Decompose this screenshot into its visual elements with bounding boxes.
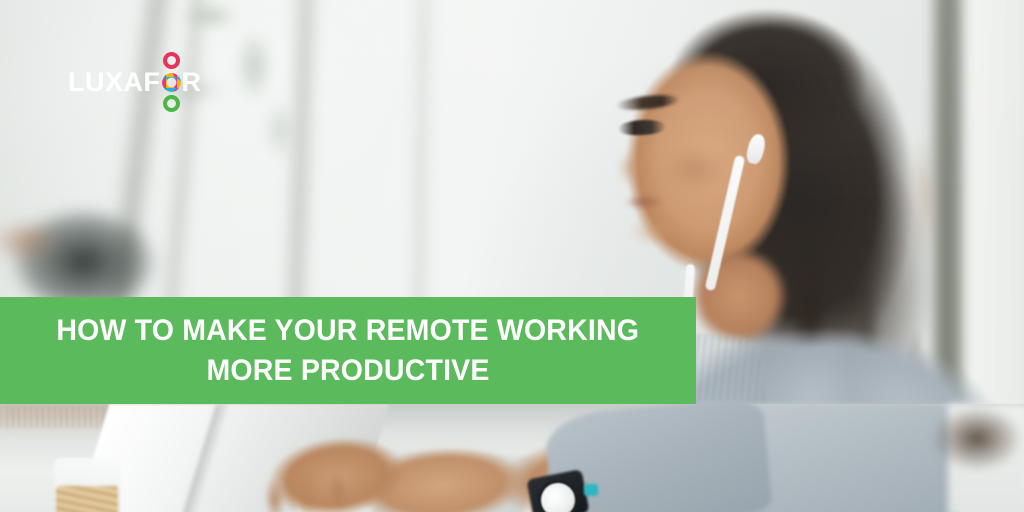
blurred-chair-highlight <box>0 206 80 276</box>
lips <box>618 191 670 213</box>
logo-wordmark-suffix: R <box>182 69 202 96</box>
logo-rings <box>161 69 182 96</box>
title-banner: HOW TO MAKE YOUR REMOTE WORKING MORE PRO… <box>0 297 696 404</box>
chin <box>622 214 688 256</box>
title-line-2: MORE PRODUCTIVE <box>206 351 489 391</box>
wristband-accent <box>584 484 598 496</box>
logo-wordmark-prefix: LUXAF <box>68 69 161 96</box>
logo-wordmark: LUXAF R <box>68 69 202 96</box>
logo-ring-green-icon <box>163 95 180 112</box>
glass-jar-contents <box>56 486 118 512</box>
logo-ring-multicolor-icon <box>162 73 181 92</box>
logo-ring-red-icon <box>163 52 180 69</box>
hair-lower <box>922 404 1024 490</box>
nose <box>608 144 644 192</box>
title-line-1: HOW TO MAKE YOUR REMOTE WORKING <box>57 311 640 351</box>
banner-image-canvas: LUXAF R HOW TO MAKE YOUR REMOTE WORKING … <box>0 0 1024 512</box>
luxafor-logo[interactable]: LUXAF R <box>68 60 202 104</box>
